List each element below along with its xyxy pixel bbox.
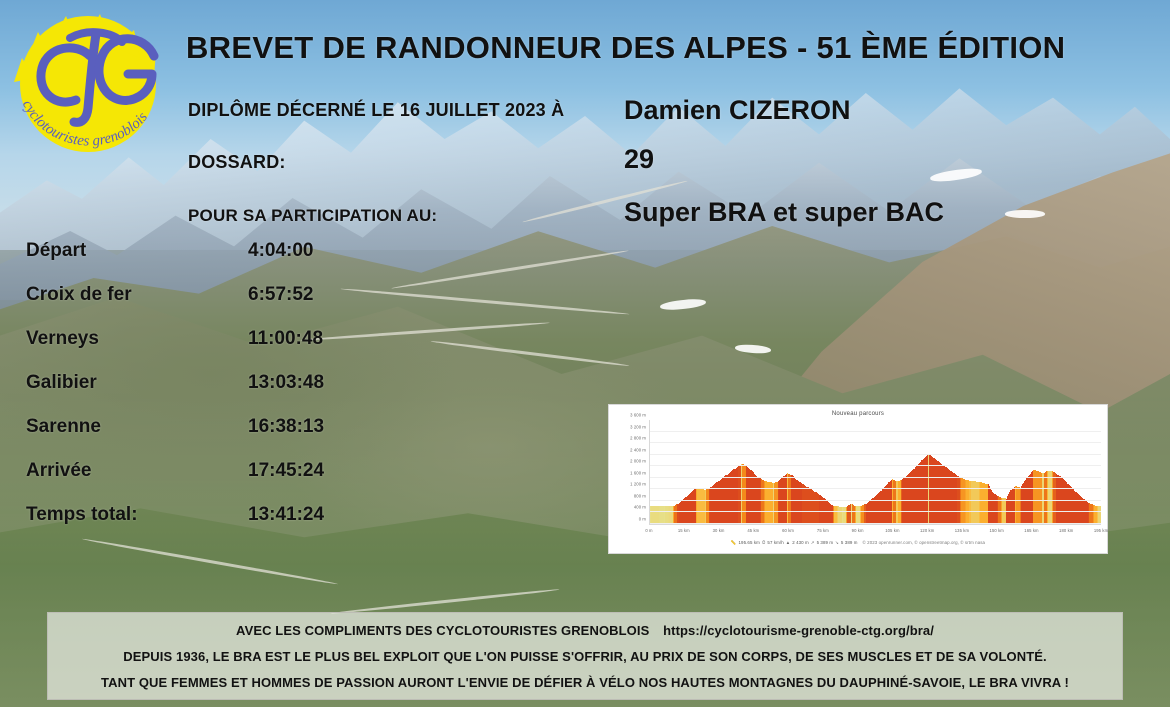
rider-name-value: Damien CIZERON (624, 95, 851, 126)
chart-y-tick-label: 400 m (634, 505, 646, 510)
descent-icon: ↘ (835, 540, 839, 546)
split-label: Verneys (26, 328, 248, 350)
chart-y-tick-label: 3 600 m (630, 413, 646, 418)
table-row: Galibier 13:03:48 (26, 372, 366, 416)
chart-x-tick-label: 135 km (955, 528, 969, 533)
banner-compliments-text: AVEC LES COMPLIMENTS DES CYCLOTOURISTES … (236, 623, 649, 638)
chart-x-tick-label: 195 km (1094, 528, 1108, 533)
stat-ascent: 5 389 m (817, 540, 834, 545)
chart-x-tick-label: 75 km (817, 528, 829, 533)
split-label: Arrivée (26, 460, 248, 482)
chart-canvas (649, 420, 1101, 524)
banner-line-motto: TANT QUE FEMMES ET HOMMES DE PASSION AUR… (58, 675, 1112, 690)
table-row: Verneys 11:00:48 (26, 328, 366, 372)
banner-website-link[interactable]: https://cyclotourisme-grenoble-ctg.org/b… (663, 623, 934, 638)
chart-credit: © 2023 openrunner.com, © openstreetmap.o… (863, 540, 986, 545)
chart-x-tick-label: 90 km (852, 528, 864, 533)
distance-icon: 📏 (731, 540, 737, 546)
category-value: Super BRA et super BAC (624, 197, 944, 228)
stat-descent: 5 389 m (841, 540, 858, 545)
ascent-icon: ↗ (811, 540, 815, 546)
banner-line-compliments: AVEC LES COMPLIMENTS DES CYCLOTOURISTES … (58, 623, 1112, 638)
chart-gridline (650, 477, 1101, 478)
chart-y-tick-label: 2 000 m (630, 459, 646, 464)
chart-y-tick-label: 800 m (634, 493, 646, 498)
chart-y-tick-label: 0 m (639, 517, 646, 522)
chart-y-tick-label: 2 800 m (630, 436, 646, 441)
chart-x-tick-label: 0 m (645, 528, 652, 533)
chart-plot-area: 0 m400 m800 m1 200 m1 600 m2 000 m2 400 … (615, 420, 1101, 524)
ctg-club-logo: cyclotouristes grenoblois (4, 4, 176, 156)
awarded-date-label: DIPLÔME DÉCERNÉ LE 16 JUILLET 2023 À (188, 100, 564, 121)
chart-gridline (650, 442, 1101, 443)
chart-y-tick-label: 2 400 m (630, 447, 646, 452)
chart-stats-line: 📏195.65 km⏱57 km/h▲2 430 m↗5 389 m↘5 389… (615, 540, 1101, 546)
split-label: Croix de fer (26, 284, 248, 306)
split-time: 13:03:48 (248, 372, 324, 394)
chart-y-tick-label: 1 600 m (630, 470, 646, 475)
speed-icon: ⏱ (762, 540, 766, 545)
chart-x-tick-label: 120 km (920, 528, 934, 533)
chart-x-tick-label: 180 km (1059, 528, 1073, 533)
stat-distance: 195.65 km (738, 540, 759, 545)
page-title: BREVET DE RANDONNEUR DES ALPES - 51 ÈME … (186, 30, 1065, 66)
footer-banner: AVEC LES COMPLIMENTS DES CYCLOTOURISTES … (47, 612, 1123, 700)
chart-gridline (650, 431, 1101, 432)
summit-icon: ▲ (786, 540, 790, 545)
diploma-certificate: cyclotouristes grenoblois BREVET DE RAND… (0, 0, 1170, 707)
elevation-bars (650, 420, 1101, 524)
chart-x-tick-label: 105 km (885, 528, 899, 533)
chart-y-tick-label: 3 200 m (630, 424, 646, 429)
split-label: Sarenne (26, 416, 248, 438)
chart-y-axis: 0 m400 m800 m1 200 m1 600 m2 000 m2 400 … (615, 420, 649, 524)
chart-gridline (650, 488, 1101, 489)
split-time: 11:00:48 (248, 328, 323, 350)
table-row: Départ 4:04:00 (26, 240, 366, 284)
split-label: Départ (26, 240, 248, 262)
table-row: Croix de fer 6:57:52 (26, 284, 366, 328)
split-label: Temps total: (26, 504, 248, 526)
chart-x-tick-label: 45 km (747, 528, 759, 533)
table-row: Sarenne 16:38:13 (26, 416, 366, 460)
banner-line-history: DEPUIS 1936, LE BRA EST LE PLUS BEL EXPL… (58, 649, 1112, 664)
split-times-table: Départ 4:04:00 Croix de fer 6:57:52 Vern… (26, 240, 366, 548)
chart-x-axis: 0 m15 km30 km45 km60 km75 km90 km105 km1… (649, 524, 1101, 539)
split-label: Galibier (26, 372, 248, 394)
split-time: 6:57:52 (248, 284, 314, 306)
stat-speed: 57 km/h (767, 540, 783, 545)
chart-x-tick-label: 165 km (1024, 528, 1038, 533)
participation-label: POUR SA PARTICIPATION AU: (188, 206, 437, 226)
chart-x-tick-label: 150 km (990, 528, 1004, 533)
chart-x-tick-label: 15 km (678, 528, 690, 533)
chart-x-tick-label: 30 km (713, 528, 725, 533)
split-time: 4:04:00 (248, 240, 314, 262)
split-time: 17:45:24 (248, 460, 324, 482)
split-time: 16:38:13 (248, 416, 324, 438)
chart-x-tick-label: 60 km (782, 528, 794, 533)
chart-y-tick-label: 1 200 m (630, 482, 646, 487)
elevation-profile-chart: Nouveau parcours 0 m400 m800 m1 200 m1 6… (608, 404, 1108, 554)
chart-gridline (650, 511, 1101, 512)
stat-max-altitude: 2 430 m (792, 540, 809, 545)
chart-gridline (650, 500, 1101, 501)
split-time: 13:41:24 (248, 504, 324, 526)
chart-gridline (650, 454, 1101, 455)
dossard-number-value: 29 (624, 144, 654, 175)
chart-title: Nouveau parcours (615, 411, 1101, 417)
chart-gridline (650, 465, 1101, 466)
table-row: Arrivée 17:45:24 (26, 460, 366, 504)
dossard-label: DOSSARD: (188, 152, 286, 173)
table-row: Temps total: 13:41:24 (26, 504, 366, 548)
